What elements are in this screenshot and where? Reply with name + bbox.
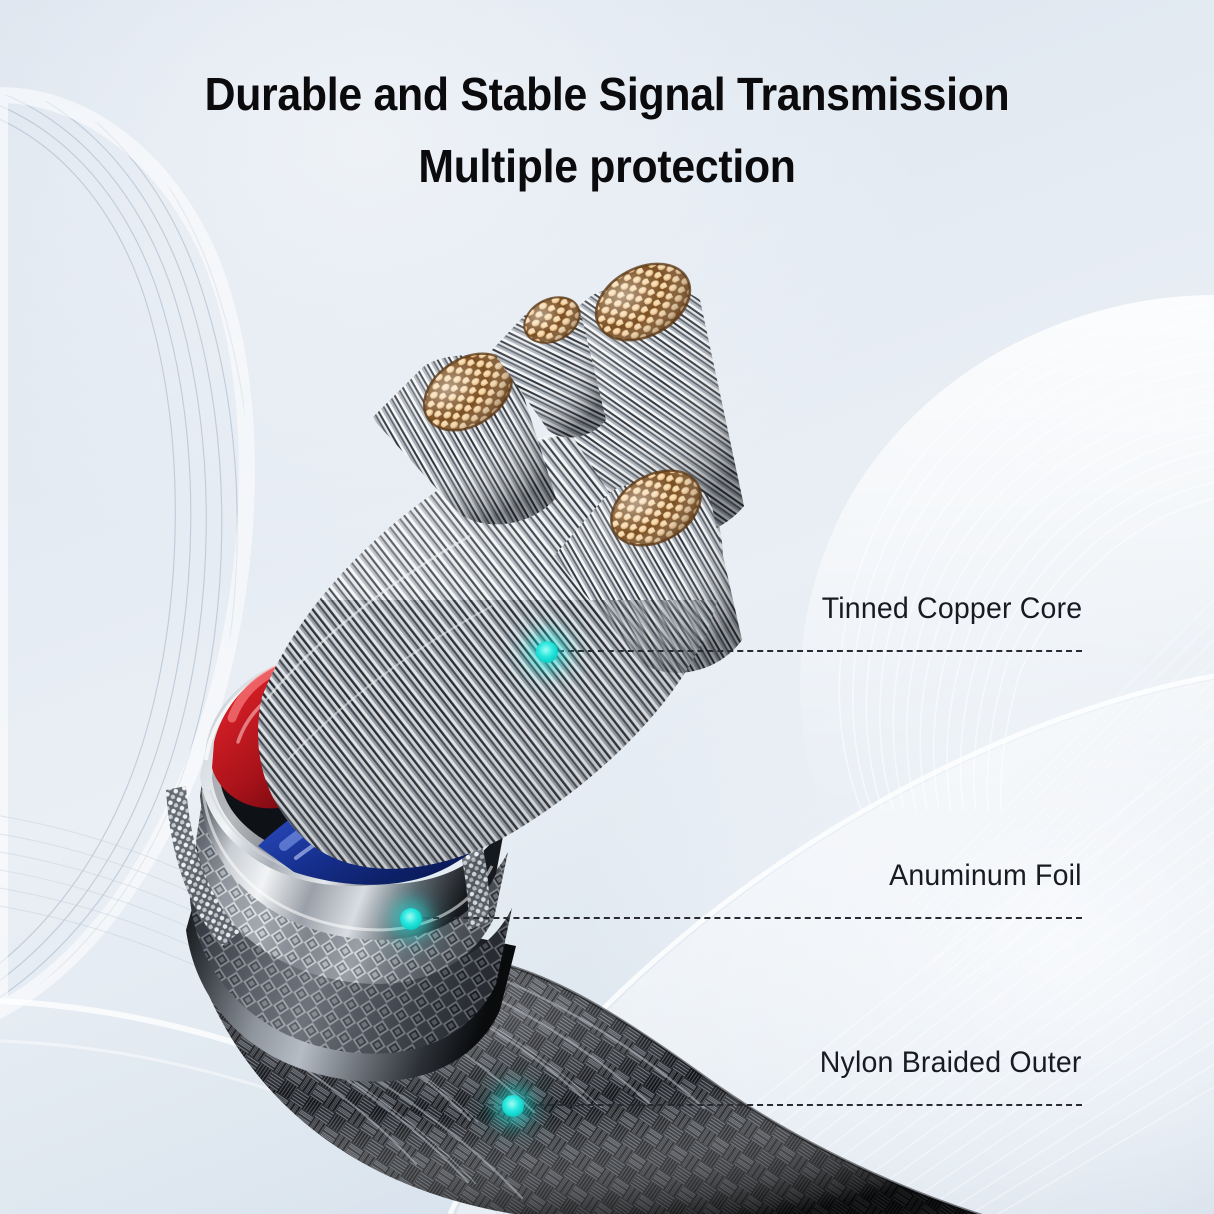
callout-label: Tinned Copper Core: [821, 592, 1082, 626]
page-title-line-2: Multiple protection: [42, 143, 1171, 189]
cyan-dot-marker: [536, 641, 558, 663]
cyan-dot-marker: [400, 908, 422, 930]
heading-block: Durable and Stable Signal Transmission M…: [0, 0, 1214, 189]
leader-line: [413, 917, 1082, 919]
callout-nylon-braided-outer: Nylon Braided Outer: [488, 1014, 1082, 1106]
callout-label: Anuminum Foil: [889, 859, 1082, 893]
callout-anuminum-foil: Anuminum Foil: [413, 827, 1082, 919]
callout-label: Nylon Braided Outer: [820, 1046, 1082, 1080]
infographic-canvas: Durable and Stable Signal Transmission M…: [0, 0, 1214, 1214]
callout-tinned-copper-core: Tinned Copper Core: [548, 560, 1082, 652]
leader-line: [548, 650, 1082, 652]
page-title-line-1: Durable and Stable Signal Transmission: [42, 71, 1171, 117]
leader-line: [488, 1104, 1082, 1106]
cyan-dot-marker: [502, 1095, 524, 1117]
